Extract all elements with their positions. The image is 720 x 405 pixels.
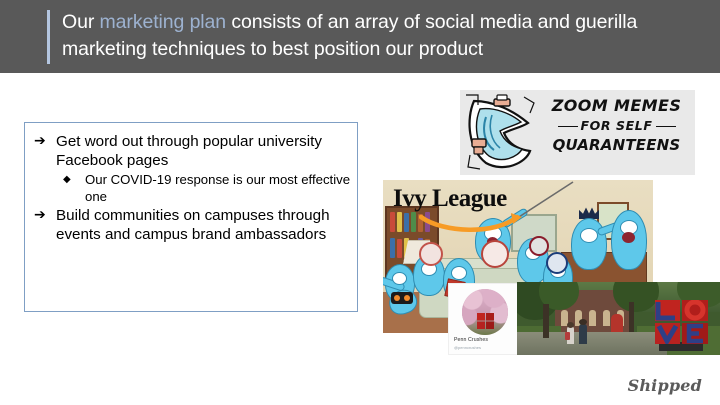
profile-handle: @penncrushes — [454, 345, 481, 350]
image-penn-crushes-profile-card: Penn Crushes @penncrushes — [448, 283, 520, 355]
list-item: ➔ Build communities on campuses through … — [34, 206, 352, 244]
header-accent-bar — [47, 10, 50, 64]
list-item: ➔ Get word out through popular universit… — [34, 132, 352, 170]
love-sculpture-icon — [477, 313, 494, 329]
blue-character-face — [451, 266, 467, 280]
zoom-memes-caption: ZOOM MEMES FOR SELF QUARANTEENS — [540, 95, 693, 171]
list-item-label: Our COVID-19 response is our most effect… — [85, 172, 350, 204]
list-item: ◆ Our COVID-19 response is our most effe… — [34, 171, 352, 205]
ivy-league-title: Ivy League — [393, 185, 507, 213]
orange-accent — [404, 295, 410, 301]
title-text-part1: Our — [62, 11, 100, 33]
avatar — [462, 289, 508, 335]
caption-line-3: QUARANTEENS — [540, 135, 693, 156]
brand-logo-shipped: Shipped — [628, 376, 702, 395]
blue-character-mouth — [622, 232, 635, 243]
university-seal — [419, 242, 443, 266]
zoom-memes-illustration — [464, 93, 538, 171]
arrow-bullet-icon: ➔ — [34, 206, 46, 225]
profile-name: Penn Crushes — [454, 337, 488, 343]
content-text-box: ➔ Get word out through popular universit… — [24, 122, 358, 312]
blue-character-face — [580, 228, 598, 243]
arrow-bullet-icon: ➔ — [34, 132, 46, 151]
list-item-label: Build communities on campuses through ev… — [56, 207, 330, 243]
love-sculpture — [655, 300, 709, 344]
list-item-label: Get word out through popular university … — [56, 133, 322, 169]
caption-line-2: FOR SELF — [581, 118, 653, 133]
orange-accent — [394, 295, 400, 301]
university-seal — [546, 252, 568, 274]
caption-line-1: ZOOM MEMES — [540, 95, 693, 116]
amazon-style-arrow-icon — [419, 213, 525, 233]
photo-person-head — [567, 322, 574, 328]
image-zoom-memes-logo: ZOOM MEMES FOR SELF QUARANTEENS — [460, 90, 695, 175]
image-campus-love-sculpture-photo — [517, 282, 720, 355]
dash-right-icon — [656, 126, 676, 128]
blue-character-face — [392, 272, 407, 285]
photo-tree-trunk — [543, 304, 549, 338]
university-seal — [529, 236, 549, 256]
diamond-bullet-icon: ◆ — [63, 171, 71, 188]
slide-header-band: Our marketing plan consists of an array … — [0, 0, 720, 73]
caption-line-2-wrapper: FOR SELF — [540, 116, 693, 135]
bullet-list: ➔ Get word out through popular universit… — [34, 132, 352, 245]
photo-bag — [565, 332, 570, 340]
title-highlight-marketing-plan: marketing plan — [100, 11, 227, 33]
page-title: Our marketing plan consists of an array … — [62, 9, 707, 63]
university-seal — [481, 240, 509, 268]
dash-left-icon — [558, 126, 578, 128]
photo-tree-trunk — [629, 302, 634, 332]
photo-person-head — [579, 319, 587, 325]
photo-person — [579, 324, 587, 344]
photo-walkway — [517, 332, 667, 355]
